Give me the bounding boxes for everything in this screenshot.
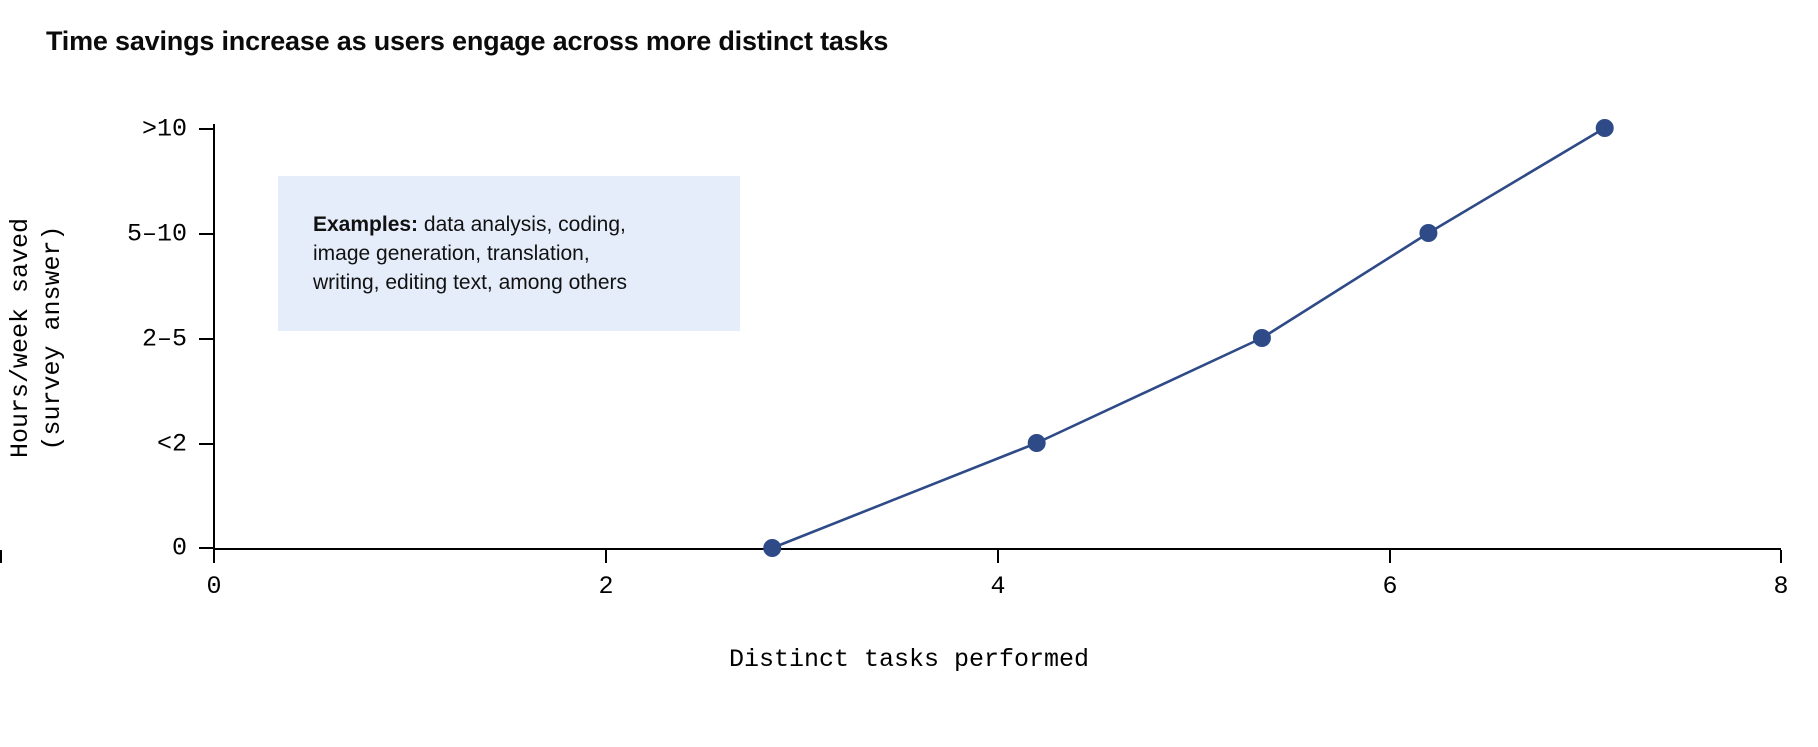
y-tick-label-1: <2: [157, 430, 187, 459]
series-layer: [0, 0, 1818, 747]
examples-callout-line-2: image generation, translation,: [313, 239, 713, 268]
y-tick-mark-1: [199, 443, 213, 445]
y-axis-title-line-1: Hours/week saved: [5, 173, 37, 503]
x-tick-label-4: 8: [1773, 572, 1788, 601]
y-axis-line: [213, 124, 215, 550]
data-point: [1253, 329, 1271, 347]
examples-callout-line-3: writing, editing text, among others: [313, 268, 713, 297]
y-tick-mark-3: [199, 233, 213, 235]
y-tick-label-4: >10: [142, 115, 187, 144]
y-axis-title-line-2: (survey answer): [37, 173, 69, 503]
x-tick-label-0: 0: [206, 572, 221, 601]
examples-callout-label: Examples:: [313, 213, 418, 236]
y-axis-title: Hours/week saved (survey answer): [5, 173, 69, 503]
x-tick-mark-0: [213, 550, 215, 563]
examples-callout-text: Examples: data analysis, coding, image g…: [313, 210, 713, 297]
chart-container: Time savings increase as users engage ac…: [0, 0, 1818, 747]
x-tick-mark-2: [997, 550, 999, 563]
x-axis-title: Distinct tasks performed: [0, 645, 1818, 674]
x-tick-mark-1: [0, 550, 2, 563]
chart-title: Time savings increase as users engage ac…: [46, 26, 888, 57]
series-markers: [763, 119, 1613, 557]
x-tick-mark-4: [1780, 550, 1782, 563]
data-point: [1419, 224, 1437, 242]
x-tick-label-3: 6: [1382, 572, 1397, 601]
examples-callout-line-1-rest: data analysis, coding,: [418, 213, 626, 236]
y-tick-label-3: 5–10: [127, 220, 187, 249]
data-point: [1596, 119, 1614, 137]
y-tick-mark-4: [199, 128, 213, 130]
y-tick-mark-0: [199, 547, 213, 549]
y-tick-label-0: 0: [172, 534, 187, 563]
x-tick-mark-1b: [605, 550, 607, 563]
series-line: [772, 128, 1604, 548]
data-point: [1028, 434, 1046, 452]
x-tick-label-2: 4: [990, 572, 1005, 601]
y-tick-mark-2: [199, 338, 213, 340]
y-tick-label-2: 2–5: [142, 325, 187, 354]
x-tick-mark-3: [1389, 550, 1391, 563]
examples-callout-line-1: Examples: data analysis, coding,: [313, 210, 713, 239]
x-tick-label-1: 2: [598, 572, 613, 601]
